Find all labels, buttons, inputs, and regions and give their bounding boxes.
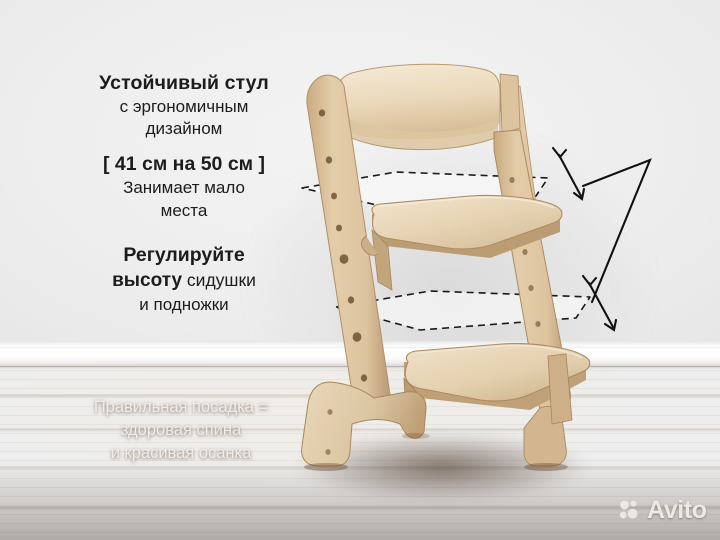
callout-line-mixed: высоту сидушки	[68, 268, 300, 293]
avito-wordmark: Avito	[647, 496, 707, 525]
callout-line: с эргономичным	[68, 96, 300, 119]
callout-line: места	[68, 200, 300, 223]
callout-line: дизайном	[68, 118, 300, 141]
product-photo-scene: Устойчивый стул с эргономичным дизайном …	[0, 0, 720, 540]
callout-line: Устойчивый стул	[68, 72, 300, 96]
callout-emphasis: высоту	[112, 270, 182, 291]
callout-posture: Правильная посадка = здоровая спина и кр…	[56, 396, 306, 464]
avito-logo-icon	[618, 498, 642, 522]
callout-rest: сидушки	[182, 270, 256, 290]
footrest-height-double-arrow	[589, 283, 613, 327]
callout-line: и подножки	[68, 294, 300, 317]
chair-backrest	[331, 64, 520, 149]
callout-dimensions: [ 41 см на 50 см ]	[68, 152, 300, 177]
callout-line: Регулируйте	[68, 243, 300, 268]
avito-watermark: Avito	[618, 496, 707, 524]
callout-line: Занимает мало	[68, 177, 300, 200]
callout-line: и красивая осанка	[56, 442, 306, 465]
callout-stable-chair: Устойчивый стул с эргономичным дизайном	[68, 72, 300, 141]
callout-line: Правильная посадка =	[56, 396, 306, 419]
callout-line: здоровая спина	[56, 419, 306, 442]
seat-height-double-arrow	[559, 155, 581, 196]
callout-adjust-height: Регулируйте высоту сидушки и подножки	[68, 243, 300, 316]
callout-footprint: [ 41 см на 50 см ] Занимает мало места	[68, 152, 300, 223]
